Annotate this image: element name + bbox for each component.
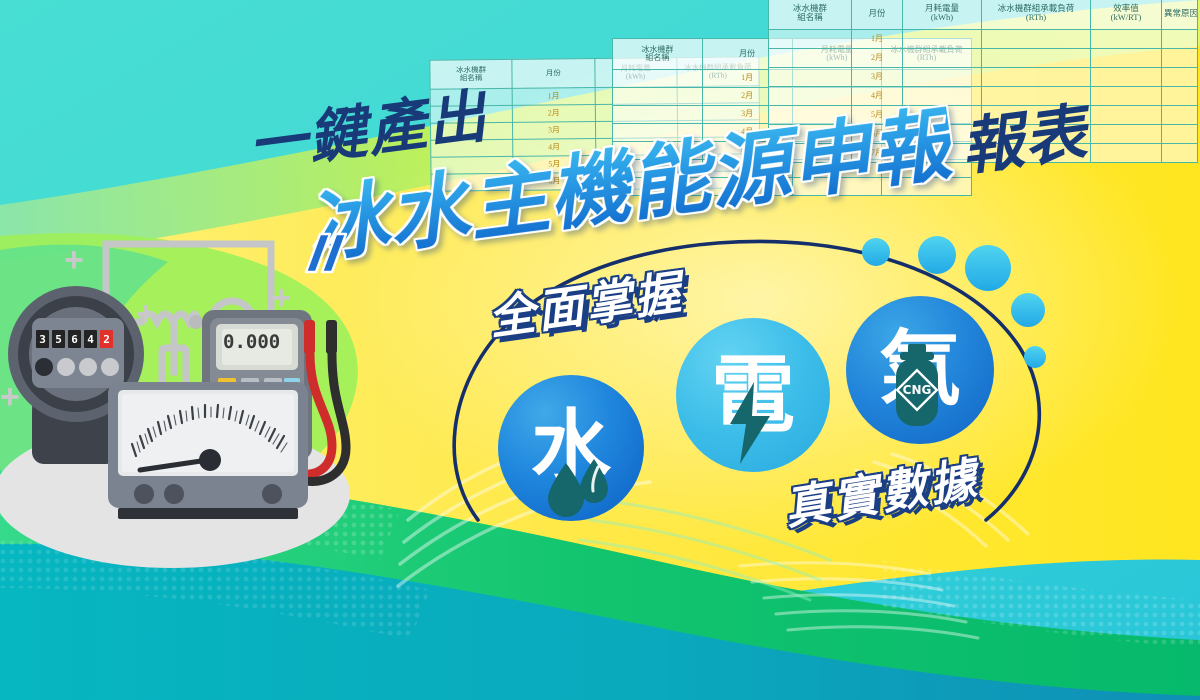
arc-node [965, 245, 1011, 291]
plus-decoration: + [64, 243, 84, 277]
bubble-electricity-label: 電 [711, 353, 795, 437]
arc-node [918, 236, 956, 274]
meter-digit: 6 [68, 330, 81, 348]
bubble-gas[interactable]: 氣 CNG [846, 296, 994, 444]
bubble-water-label: 水 [531, 408, 611, 488]
bubble-gas-label: 氣 [879, 329, 961, 411]
bubble-electricity[interactable]: 電 [676, 318, 830, 472]
arc-node [862, 238, 890, 266]
meter-digit-alert: 2 [100, 330, 113, 348]
arc-node [1011, 293, 1045, 327]
analog-meter [104, 378, 314, 528]
meter-digit: 3 [36, 330, 49, 348]
bubble-water[interactable]: 水 [498, 375, 644, 521]
meter-digit: 5 [52, 330, 65, 348]
promotional-banner: 冰水機群組名稱 月份 月耗電量(kWh) 冰水機群組承載負荷(RTh) 1月 2… [0, 0, 1200, 700]
meter-digit-readout: 3 5 6 4 2 [36, 330, 113, 348]
brand-chevron-icon [300, 232, 354, 276]
meter-indicator-lights [34, 356, 120, 378]
arc-node [1024, 346, 1046, 368]
meter-digit: 4 [84, 330, 97, 348]
